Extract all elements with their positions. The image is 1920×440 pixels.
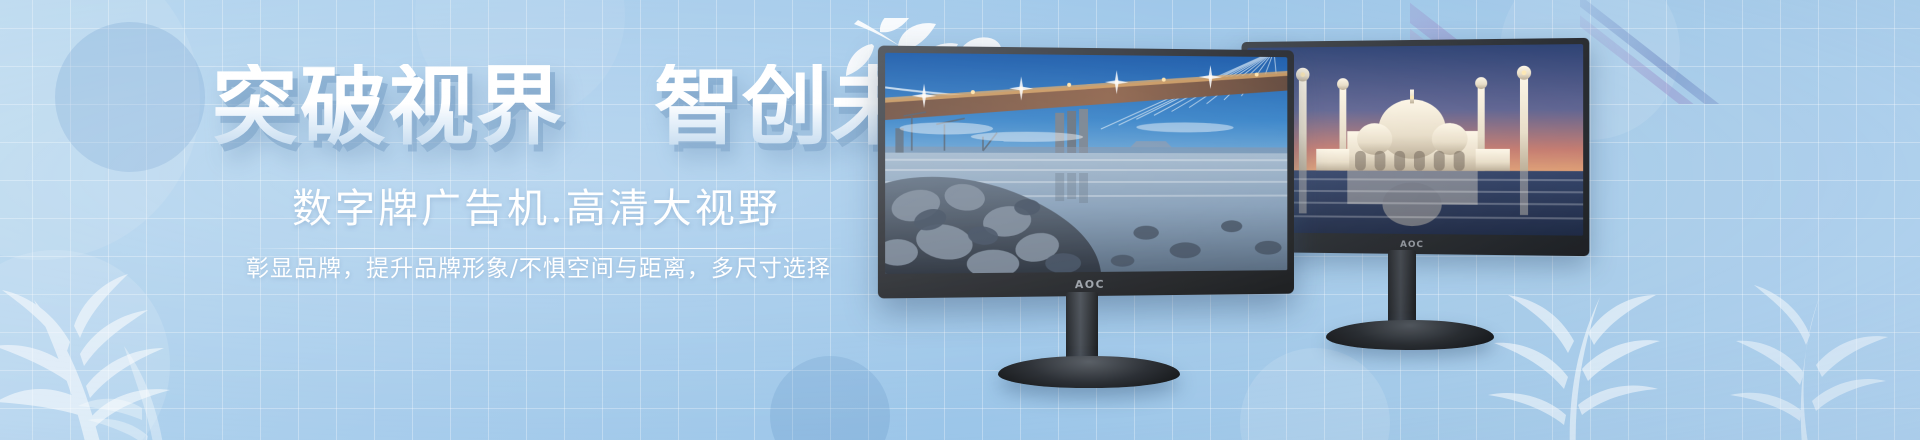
decor-circle [770,356,890,440]
monitor-stand-neck [1066,292,1098,366]
monitor-stand-base [998,356,1180,388]
monitor-screen-bridge [885,53,1287,274]
decor-circle [55,22,205,172]
ribbon-decoration-secondary [1580,0,1800,104]
monitor-bezel: AOC [878,46,1294,299]
promo-banner: 突破视界 智创未来 数字牌广告机.高清大视野 彰显品牌，提升品牌形象/不惧空间与… [0,0,1920,440]
brand-logo-aoc: AOC [878,276,1294,293]
monitor-stand-base [1326,320,1494,350]
decor-circle [0,250,170,440]
divider [246,248,846,249]
leaf-branch-icon [1712,215,1902,440]
headline-part-1: 突破视界 [212,57,564,157]
monitor-front: AOC [880,48,1300,398]
monitor-stand-neck [1388,250,1416,328]
tagline: 彰显品牌，提升品牌形象/不惧空间与距离，多尺寸选择 [246,258,831,281]
subtitle: 数字牌广告机.高清大视野 [292,189,781,229]
